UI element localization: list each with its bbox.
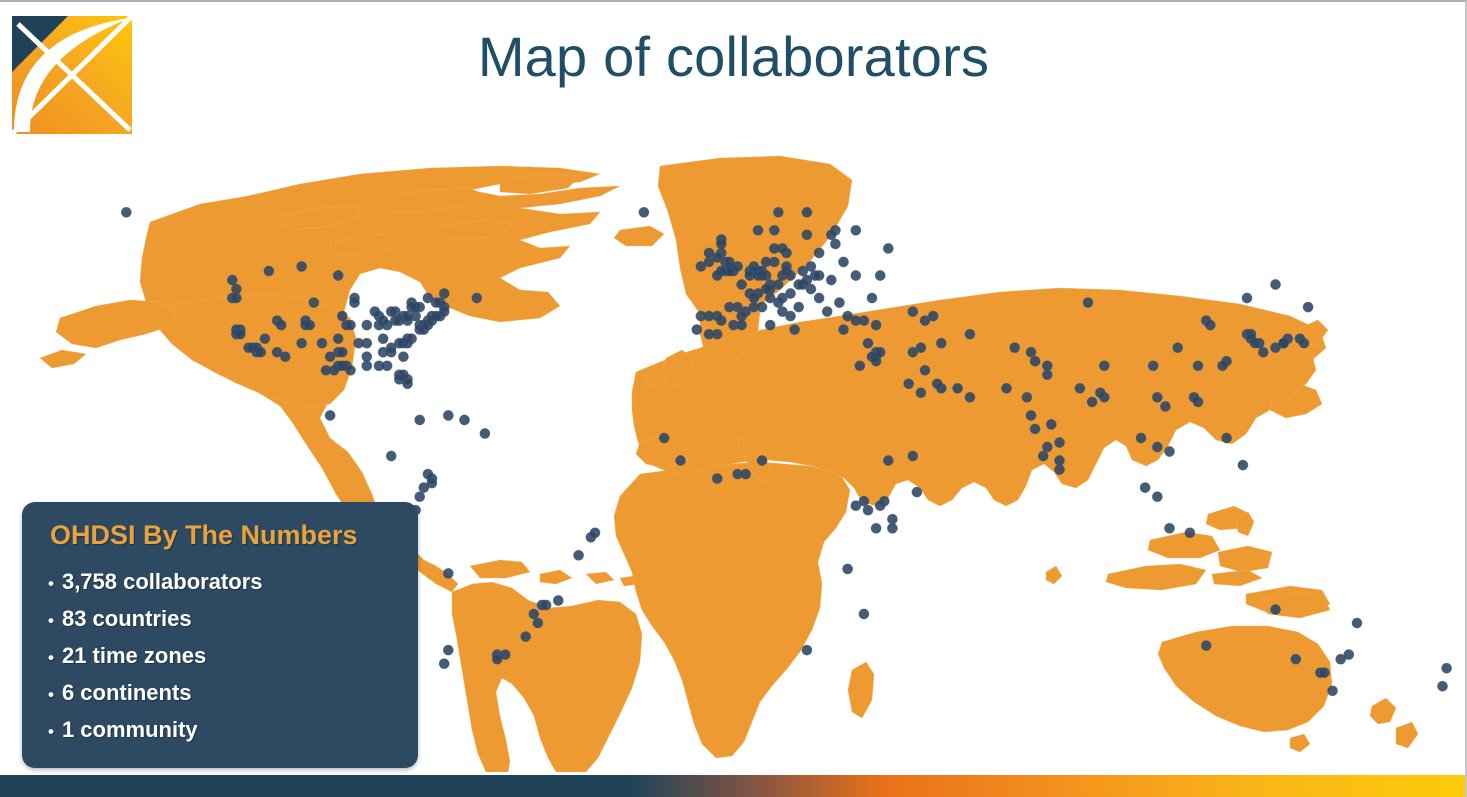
collaborator-marker[interactable] [1010,343,1020,353]
collaborator-marker[interactable] [952,383,962,393]
collaborator-marker[interactable] [398,352,408,362]
collaborator-marker[interactable] [838,257,848,267]
collaborator-marker[interactable] [1270,279,1280,289]
collaborator-marker[interactable] [472,293,482,303]
collaborator-marker[interactable] [639,207,649,217]
collaborator-marker[interactable] [802,645,812,655]
stat-item-label: 21 time zones [62,643,206,669]
slide-root: Map of collaborators [0,0,1467,797]
collaborator-marker[interactable] [541,600,551,610]
bullet-icon: • [48,649,54,666]
collaborator-marker[interactable] [851,501,861,511]
collaborator-marker[interactable] [378,347,388,357]
collaborator-marker[interactable] [875,501,885,511]
collaborator-marker[interactable] [908,451,918,461]
collaborator-marker[interactable] [1193,361,1203,371]
collaborator-marker[interactable] [533,618,543,628]
collaborator-marker[interactable] [704,248,714,258]
collaborator-marker[interactable] [916,388,926,398]
collaborator-marker[interactable] [325,410,335,420]
collaborator-marker[interactable] [349,297,359,307]
collaborator-marker[interactable] [1303,302,1313,312]
collaborator-marker[interactable] [309,297,319,307]
collaborator-marker[interactable] [871,320,881,330]
collaborator-marker[interactable] [753,225,763,235]
collaborator-marker[interactable] [264,266,274,276]
collaborator-marker[interactable] [736,320,746,330]
stat-item: •6 continents [48,680,392,706]
collaborator-marker[interactable] [260,334,270,344]
collaborator-marker[interactable] [887,523,897,533]
stats-panel: OHDSI By The Numbers •3,758 collaborator… [22,502,418,768]
collaborator-marker[interactable] [256,347,266,357]
collaborator-marker[interactable] [1164,523,1174,533]
collaborator-marker[interactable] [1054,464,1064,474]
collaborator-marker[interactable] [235,329,245,339]
collaborator-marker[interactable] [296,338,306,348]
collaborator-marker[interactable] [443,568,453,578]
collaborator-marker[interactable] [362,320,372,330]
collaborator-marker[interactable] [712,270,722,280]
collaborator-marker[interactable] [1046,419,1056,429]
collaborator-marker[interactable] [1042,361,1052,371]
bullet-icon: • [48,575,54,592]
collaborator-marker[interactable] [480,428,490,438]
collaborator-marker[interactable] [305,320,315,330]
collaborator-marker[interactable] [1001,383,1011,393]
collaborator-marker[interactable] [521,631,531,641]
collaborator-marker[interactable] [337,347,347,357]
collaborator-marker[interactable] [370,306,380,316]
collaborator-marker[interactable] [1054,455,1064,465]
collaborator-marker[interactable] [1136,433,1146,443]
collaborator-marker[interactable] [1441,663,1451,673]
collaborator-marker[interactable] [814,293,824,303]
collaborator-marker[interactable] [382,361,392,371]
collaborator-marker[interactable] [362,361,372,371]
collaborator-marker[interactable] [1075,383,1085,393]
collaborator-marker[interactable] [1221,433,1231,443]
collaborator-marker[interactable] [419,482,429,492]
collaborator-marker[interactable] [802,275,812,285]
collaborator-marker[interactable] [757,302,767,312]
collaborator-marker[interactable] [378,334,388,344]
collaborator-marker[interactable] [1238,460,1248,470]
collaborator-marker[interactable] [276,320,286,330]
collaborator-marker[interactable] [883,455,893,465]
collaborator-marker[interactable] [875,347,885,357]
collaborator-marker[interactable] [838,324,848,334]
collaborator-marker[interactable] [439,659,449,669]
collaborator-marker[interactable] [912,487,922,497]
collaborator-marker[interactable] [386,451,396,461]
collaborator-marker[interactable] [761,257,771,267]
collaborator-marker[interactable] [1242,293,1252,303]
collaborator-marker[interactable] [243,343,253,353]
stat-item-label: 1 community [62,717,198,743]
collaborator-marker[interactable] [769,243,779,253]
stat-item: •83 countries [48,606,392,632]
collaborator-marker[interactable] [394,374,404,384]
collaborator-marker[interactable] [757,455,767,465]
collaborator-marker[interactable] [337,361,347,371]
collaborator-marker[interactable] [431,297,441,307]
collaborator-marker[interactable] [406,302,416,312]
stat-item: •1 community [48,717,392,743]
collaborator-marker[interactable] [871,523,881,533]
collaborator-marker[interactable] [1038,451,1048,461]
collaborator-marker[interactable] [1160,401,1170,411]
collaborator-marker[interactable] [1352,618,1362,628]
bullet-icon: • [48,686,54,703]
collaborator-marker[interactable] [333,334,343,344]
collaborator-marker[interactable] [712,473,722,483]
stat-item-label: 3,758 collaborators [62,569,263,595]
collaborator-marker[interactable] [855,361,865,371]
collaborator-marker[interactable] [1087,397,1097,407]
collaborator-marker[interactable] [1205,320,1215,330]
collaborator-marker[interactable] [887,514,897,524]
collaborator-marker[interactable] [789,324,799,334]
collaborator-marker[interactable] [1173,343,1183,353]
collaborator-marker[interactable] [724,302,734,312]
bullet-icon: • [48,723,54,740]
collaborator-marker[interactable] [590,528,600,538]
collaborator-marker[interactable] [765,320,775,330]
collaborator-marker[interactable] [1152,442,1162,452]
collaborator-marker[interactable] [863,338,873,348]
collaborator-marker[interactable] [280,352,290,362]
collaborator-marker[interactable] [121,207,131,217]
collaborator-marker[interactable] [459,415,469,425]
collaborator-marker[interactable] [353,338,363,348]
bullet-icon: • [48,612,54,629]
collaborator-marker[interactable] [1099,361,1109,371]
collaborator-marker[interactable] [1185,528,1195,538]
collaborator-marker[interactable] [741,469,751,479]
collaborator-marker[interactable] [794,302,804,312]
collaborator-marker[interactable] [904,379,914,389]
collaborator-marker[interactable] [1164,446,1174,456]
collaborator-marker[interactable] [965,329,975,339]
collaborator-marker[interactable] [932,379,942,389]
collaborator-marker[interactable] [321,365,331,375]
collaborator-marker[interactable] [1054,437,1064,447]
collaborator-marker[interactable] [1148,361,1158,371]
collaborator-marker[interactable] [834,297,844,307]
collaborator-marker[interactable] [692,324,702,334]
collaborator-marker[interactable] [830,239,840,249]
collaborator-marker[interactable] [802,230,812,240]
collaborator-marker[interactable] [842,564,852,574]
collaborator-marker[interactable] [712,329,722,339]
collaborator-marker[interactable] [325,352,335,362]
collaborator-marker[interactable] [500,649,510,659]
collaborator-marker[interactable] [749,293,759,303]
collaborator-marker[interactable] [553,595,563,605]
collaborator-marker[interactable] [1336,654,1346,664]
collaborator-marker[interactable] [1437,681,1447,691]
collaborator-marker[interactable] [1083,297,1093,307]
collaborator-marker[interactable] [863,505,873,515]
collaborator-marker[interactable] [296,261,306,271]
collaborator-marker[interactable] [826,275,836,285]
collaborator-marker[interactable] [573,550,583,560]
page-title: Map of collaborators [0,24,1467,89]
collaborator-marker[interactable] [814,248,824,258]
collaborator-marker[interactable] [920,365,930,375]
collaborator-marker[interactable] [374,320,384,330]
collaborator-marker[interactable] [659,433,669,443]
collaborator-marker[interactable] [696,311,706,321]
collaborator-marker[interactable] [916,343,926,353]
collaborator-marker[interactable] [851,315,861,325]
collaborator-marker[interactable] [1258,347,1268,357]
collaborator-marker[interactable] [1152,392,1162,402]
collaborator-marker[interactable] [675,455,685,465]
stat-item-label: 83 countries [62,606,192,632]
collaborator-marker[interactable] [859,609,869,619]
collaborator-marker[interactable] [785,270,795,280]
collaborator-marker[interactable] [1201,640,1211,650]
collaborator-marker[interactable] [1152,492,1162,502]
collaborator-marker[interactable] [1030,424,1040,434]
collaborator-marker[interactable] [851,225,861,235]
collaborator-marker[interactable] [883,243,893,253]
collaborator-marker[interactable] [1291,654,1301,664]
collaborator-marker[interactable] [1026,410,1036,420]
collaborator-marker[interactable] [1140,482,1150,492]
collaborator-marker[interactable] [1022,392,1032,402]
collaborator-marker[interactable] [1299,338,1309,348]
collaborator-marker[interactable] [415,492,425,502]
stats-list: •3,758 collaborators•83 countries•21 tim… [48,569,392,743]
collaborator-marker[interactable] [1270,604,1280,614]
collaborator-marker[interactable] [965,392,975,402]
collaborator-marker[interactable] [362,352,372,362]
collaborator-marker[interactable] [875,270,885,280]
stat-item-label: 6 continents [62,680,192,706]
collaborator-marker[interactable] [851,270,861,280]
collaborator-marker[interactable] [443,410,453,420]
collaborator-marker[interactable] [936,338,946,348]
collaborator-marker[interactable] [928,311,938,321]
collaborator-marker[interactable] [736,279,746,289]
collaborator-marker[interactable] [822,306,832,316]
collaborator-marker[interactable] [345,320,355,330]
collaborator-marker[interactable] [773,207,783,217]
collaborator-marker[interactable] [785,311,795,321]
collaborator-marker[interactable] [1278,338,1288,348]
collaborator-marker[interactable] [415,415,425,425]
stats-panel-heading: OHDSI By The Numbers [50,520,392,551]
collaborator-marker[interactable] [732,261,742,271]
collaborator-marker[interactable] [1327,686,1337,696]
collaborator-marker[interactable] [757,270,767,280]
collaborator-marker[interactable] [1217,361,1227,371]
collaborator-marker[interactable] [716,239,726,249]
collaborator-marker[interactable] [231,293,241,303]
collaborator-marker[interactable] [785,288,795,298]
collaborator-marker[interactable] [1030,356,1040,366]
collaborator-marker[interactable] [317,338,327,348]
collaborator-marker[interactable] [443,645,453,655]
collaborator-marker[interactable] [802,207,812,217]
collaborator-marker[interactable] [1189,392,1199,402]
collaborator-marker[interactable] [1319,668,1329,678]
collaborator-marker[interactable] [1250,338,1260,348]
accent-gradient-bar [0,775,1467,797]
collaborator-marker[interactable] [1095,388,1105,398]
stat-item: •3,758 collaborators [48,569,392,595]
collaborator-marker[interactable] [908,306,918,316]
collaborator-marker[interactable] [867,293,877,303]
collaborator-marker[interactable] [826,230,836,240]
collaborator-marker[interactable] [333,270,343,280]
stat-item: •21 time zones [48,643,392,669]
collaborator-marker[interactable] [769,225,779,235]
collaborator-marker[interactable] [439,288,449,298]
